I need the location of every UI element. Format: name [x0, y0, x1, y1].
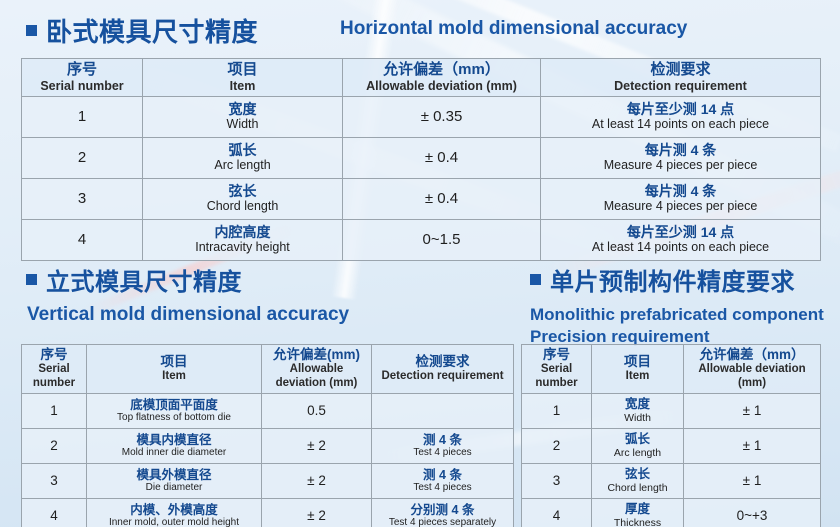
cell-item: 模具外模直径 Die diameter [87, 464, 262, 499]
col-header-serial: 序号 Serial number [22, 59, 143, 97]
cell-detection: 测 4 条 Test 4 pieces [372, 464, 514, 499]
cell-serial: 1 [22, 394, 87, 429]
cell-detection-cn: 分别测 4 条 [375, 503, 510, 518]
table-monolithic-component: 序号 Serial number 项目 Item 允许偏差（mm） Allowa… [521, 344, 821, 527]
heading-monolithic-cn: 单片预制构件精度要求 [550, 262, 795, 297]
cell-item-cn: 弧长 [146, 142, 339, 159]
cell-deviation: ± 2 [262, 464, 372, 499]
section-heading-horizontal: 卧式模具尺寸精度 [26, 12, 258, 49]
cell-detection-cn: 测 4 条 [375, 468, 510, 483]
col-header-detection-cn: 检测要求 [375, 354, 510, 370]
heading-vertical-en: Vertical mold dimensional accuracy [27, 304, 349, 326]
cell-deviation: 0.5 [262, 394, 372, 429]
col-header-serial-en: Serial number [25, 79, 139, 94]
cell-serial: 1 [22, 96, 143, 137]
cell-item-cn: 模具外模直径 [90, 468, 258, 483]
heading-vertical-cn-row: 立式模具尺寸精度 [26, 262, 349, 297]
col-header-deviation-cn: 允许偏差（mm） [346, 61, 537, 79]
table-row: 4 内模、外模高度 Inner mold, outer mold height … [22, 499, 514, 527]
cell-deviation-value: ± 1 [687, 473, 817, 489]
cell-deviation: ± 2 [262, 429, 372, 464]
col-header-item: 项目 Item [592, 345, 684, 394]
col-header-deviation-cn: 允许偏差(mm) [265, 347, 368, 363]
col-header-detection: 检测要求 Detection requirement [541, 59, 821, 97]
col-header-detection: 检测要求 Detection requirement [372, 345, 514, 394]
cell-deviation-value: ± 1 [687, 403, 817, 419]
cell-deviation-value: ± 2 [265, 473, 368, 489]
cell-deviation: ± 1 [684, 394, 821, 429]
cell-item: 内模、外模高度 Inner mold, outer mold height [87, 499, 262, 527]
cell-deviation-value: 0~1.5 [346, 231, 537, 249]
cell-serial: 2 [22, 137, 143, 178]
cell-serial: 3 [22, 464, 87, 499]
col-header-detection-en: Detection requirement [544, 79, 817, 94]
cell-detection: 每片至少测 14 点 At least 14 points on each pi… [541, 96, 821, 137]
col-header-item-en: Item [595, 370, 680, 384]
cell-deviation: 0~+3 [684, 499, 821, 527]
cell-item: 内腔高度 Intracavity height [143, 219, 343, 260]
table-row: 4 内腔高度 Intracavity height 0~1.5 每片至少测 14… [22, 219, 821, 260]
cell-item-cn: 宽度 [595, 397, 680, 412]
cell-item-en: Thickness [595, 517, 680, 527]
cell-detection-cn: 每片测 4 条 [544, 142, 817, 159]
cell-serial: 4 [22, 499, 87, 527]
cell-item-en: Chord length [146, 199, 339, 214]
cell-detection-en: Test 4 pieces separately [375, 517, 510, 527]
col-header-deviation: 允许偏差(mm) Allowable deviation (mm) [262, 345, 372, 394]
col-header-serial: 序号 Serial number [22, 345, 87, 394]
col-header-serial-cn: 序号 [25, 61, 139, 79]
col-header-item-cn: 项目 [146, 61, 339, 79]
cell-serial: 2 [22, 429, 87, 464]
cell-item-en: Arc length [595, 447, 680, 460]
cell-item-cn: 弧长 [595, 432, 680, 447]
cell-deviation: ± 0.35 [343, 96, 541, 137]
table-row: 1 底模顶面平面度 Top flatness of bottom die 0.5 [22, 394, 514, 429]
col-header-serial-cn: 序号 [525, 347, 588, 363]
cell-item: 宽度 Width [143, 96, 343, 137]
cell-detection-cn: 每片至少测 14 点 [544, 101, 817, 118]
cell-item-cn: 模具内模直径 [90, 433, 258, 448]
cell-serial-value: 1 [25, 108, 139, 126]
cell-item-en: Top flatness of bottom die [90, 412, 258, 424]
cell-serial: 4 [22, 219, 143, 260]
cell-deviation-value: ± 2 [265, 438, 368, 454]
col-header-detection-cn: 检测要求 [544, 61, 817, 79]
col-header-deviation-cn: 允许偏差（mm） [687, 347, 817, 363]
cell-deviation-value: ± 0.4 [346, 190, 537, 208]
cell-deviation-value: 0.5 [265, 403, 368, 419]
table-vertical-mold: 序号 Serial number 项目 Item 允许偏差(mm) Allowa… [21, 344, 514, 527]
cell-serial-value: 3 [25, 190, 139, 208]
cell-detection: 分别测 4 条 Test 4 pieces separately [372, 499, 514, 527]
cell-item-en: Die diameter [90, 482, 258, 494]
cell-item-cn: 宽度 [146, 101, 339, 118]
table-row: 3 弦长 Chord length ± 1 [522, 464, 821, 499]
col-header-item: 项目 Item [143, 59, 343, 97]
col-header-serial-cn: 序号 [25, 347, 83, 363]
cell-detection: 测 4 条 Test 4 pieces [372, 429, 514, 464]
col-header-deviation: 允许偏差（mm） Allowable deviation (mm) [684, 345, 821, 394]
cell-deviation: ± 0.4 [343, 178, 541, 219]
cell-detection-en: Measure 4 pieces per piece [544, 199, 817, 214]
bullet-square-icon [530, 274, 541, 285]
table-row: 2 弧长 Arc length ± 0.4 每片测 4 条 Measure 4 … [22, 137, 821, 178]
cell-item-cn: 底模顶面平面度 [90, 398, 258, 413]
table-row: 1 宽度 Width ± 1 [522, 394, 821, 429]
col-header-deviation: 允许偏差（mm） Allowable deviation (mm) [343, 59, 541, 97]
table-row: 2 弧长 Arc length ± 1 [522, 429, 821, 464]
cell-serial-value: 2 [25, 438, 83, 454]
cell-deviation-value: 0~+3 [687, 508, 817, 524]
cell-deviation-value: ± 0.35 [346, 108, 537, 126]
cell-detection [372, 394, 514, 429]
cell-item-en: Mold inner die diameter [90, 447, 258, 459]
table-horizontal-mold: 序号 Serial number 项目 Item 允许偏差（mm） Allowa… [21, 58, 821, 261]
col-header-item-en: Item [146, 79, 339, 94]
cell-item: 弧长 Arc length [592, 429, 684, 464]
cell-item: 弧长 Arc length [143, 137, 343, 178]
cell-serial-value: 2 [525, 438, 588, 454]
cell-item-cn: 内腔高度 [146, 224, 339, 241]
table-row: 3 模具外模直径 Die diameter ± 2 测 4 条 Test 4 p… [22, 464, 514, 499]
cell-deviation-value: ± 0.4 [346, 149, 537, 167]
col-header-deviation-en: Allowable deviation (mm) [265, 363, 368, 391]
table-row: 2 模具内模直径 Mold inner die diameter ± 2 测 4… [22, 429, 514, 464]
cell-detection-cn: 测 4 条 [375, 433, 510, 448]
col-header-deviation-en: Allowable deviation (mm) [687, 363, 817, 391]
cell-item-cn: 内模、外模高度 [90, 503, 258, 518]
heading-horizontal-en: Horizontal mold dimensional accuracy [340, 18, 687, 40]
cell-serial-value: 1 [525, 403, 588, 419]
cell-item-en: Width [146, 117, 339, 132]
cell-serial: 4 [522, 499, 592, 527]
heading-monolithic-en-line1: Monolithic prefabricated component [530, 304, 824, 326]
cell-item: 厚度 Thickness [592, 499, 684, 527]
cell-item: 弦长 Chord length [143, 178, 343, 219]
heading-vertical-cn: 立式模具尺寸精度 [46, 262, 242, 297]
cell-item-cn: 弦长 [146, 183, 339, 200]
page-root: 卧式模具尺寸精度 Horizontal mold dimensional acc… [0, 0, 840, 527]
cell-serial: 3 [22, 178, 143, 219]
heading-monolithic-cn-row: 单片预制构件精度要求 [530, 262, 824, 297]
section-heading-monolithic: 单片预制构件精度要求 Monolithic prefabricated comp… [530, 262, 824, 348]
cell-detection: 每片测 4 条 Measure 4 pieces per piece [541, 178, 821, 219]
table-row: 1 宽度 Width ± 0.35 每片至少测 14 点 At least 14… [22, 96, 821, 137]
section-heading-vertical: 立式模具尺寸精度 Vertical mold dimensional accur… [26, 262, 349, 326]
heading-monolithic-en: Monolithic prefabricated component Preci… [530, 304, 824, 348]
table-header-row: 序号 Serial number 项目 Item 允许偏差(mm) Allowa… [22, 345, 514, 394]
cell-deviation-value: ± 2 [265, 508, 368, 524]
cell-item: 宽度 Width [592, 394, 684, 429]
bullet-square-icon [26, 25, 37, 36]
col-header-item: 项目 Item [87, 345, 262, 394]
cell-item-en: Inner mold, outer mold height [90, 517, 258, 527]
heading-horizontal-cn-row: 卧式模具尺寸精度 [26, 12, 258, 49]
cell-serial-value: 4 [25, 231, 139, 249]
cell-deviation-value: ± 1 [687, 438, 817, 454]
cell-serial: 2 [522, 429, 592, 464]
cell-item-cn: 厚度 [595, 502, 680, 517]
cell-detection-en: Test 4 pieces [375, 482, 510, 494]
table-row: 4 厚度 Thickness 0~+3 [522, 499, 821, 527]
cell-deviation: ± 1 [684, 429, 821, 464]
cell-deviation: ± 1 [684, 464, 821, 499]
table-row: 3 弦长 Chord length ± 0.4 每片测 4 条 Measure … [22, 178, 821, 219]
col-header-item-cn: 项目 [90, 354, 258, 370]
cell-detection-en: At least 14 points on each piece [544, 117, 817, 132]
cell-detection-cn: 每片测 4 条 [544, 183, 817, 200]
cell-detection: 每片测 4 条 Measure 4 pieces per piece [541, 137, 821, 178]
cell-item-en: Width [595, 412, 680, 425]
col-header-serial-en: Serial number [25, 363, 83, 391]
cell-serial-value: 3 [525, 473, 588, 489]
cell-item: 模具内模直径 Mold inner die diameter [87, 429, 262, 464]
col-header-item-cn: 项目 [595, 354, 680, 370]
col-header-serial: 序号 Serial number [522, 345, 592, 394]
cell-serial-value: 4 [25, 508, 83, 524]
cell-detection-cn: 每片至少测 14 点 [544, 224, 817, 241]
cell-deviation: 0~1.5 [343, 219, 541, 260]
cell-detection: 每片至少测 14 点 At least 14 points on each pi… [541, 219, 821, 260]
col-header-detection-en: Detection requirement [375, 370, 510, 384]
cell-item-cn: 弦长 [595, 467, 680, 482]
cell-serial: 1 [522, 394, 592, 429]
table-header-row: 序号 Serial number 项目 Item 允许偏差（mm） Allowa… [22, 59, 821, 97]
cell-detection-en: Test 4 pieces [375, 447, 510, 459]
col-header-serial-en: Serial number [525, 363, 588, 391]
cell-item-en: Intracavity height [146, 240, 339, 255]
heading-horizontal-cn: 卧式模具尺寸精度 [46, 12, 258, 49]
cell-deviation: ± 2 [262, 499, 372, 527]
cell-item-en: Arc length [146, 158, 339, 173]
cell-serial-value: 4 [525, 508, 588, 524]
cell-serial: 3 [522, 464, 592, 499]
cell-deviation: ± 0.4 [343, 137, 541, 178]
cell-item-en: Chord length [595, 482, 680, 495]
cell-item: 弦长 Chord length [592, 464, 684, 499]
table-header-row: 序号 Serial number 项目 Item 允许偏差（mm） Allowa… [522, 345, 821, 394]
col-header-item-en: Item [90, 370, 258, 384]
cell-detection-en: At least 14 points on each piece [544, 240, 817, 255]
cell-serial-value: 2 [25, 149, 139, 167]
col-header-deviation-en: Allowable deviation (mm) [346, 79, 537, 94]
cell-serial-value: 1 [25, 403, 83, 419]
bullet-square-icon [26, 274, 37, 285]
cell-detection-en: Measure 4 pieces per piece [544, 158, 817, 173]
cell-item: 底模顶面平面度 Top flatness of bottom die [87, 394, 262, 429]
cell-serial-value: 3 [25, 473, 83, 489]
